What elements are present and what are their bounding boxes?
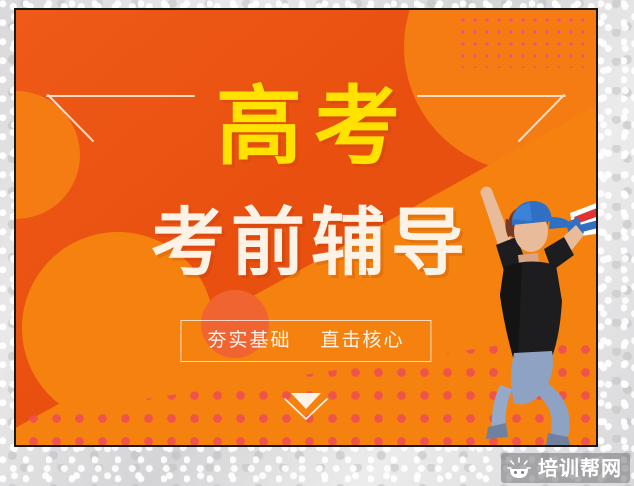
- chevron-down-icon: [278, 386, 334, 422]
- sun-face-icon: [507, 457, 531, 479]
- poster-title-main: 高考: [16, 84, 598, 170]
- dot-grid-pink-icon: [454, 10, 584, 68]
- tagline-left: 夯实基础: [207, 329, 291, 351]
- jumping-student-illustration: [452, 175, 598, 445]
- tagline-right: 直击核心: [321, 329, 405, 351]
- poster-frame: 高考 考前辅导 夯实基础 直击核心: [14, 8, 598, 447]
- watermark-text: 培训帮网: [538, 457, 622, 479]
- tagline-box: 夯实基础 直击核心: [180, 320, 431, 362]
- page-backdrop: 高考 考前辅导 夯实基础 直击核心: [0, 0, 634, 486]
- watermark: 培训帮网: [501, 453, 630, 483]
